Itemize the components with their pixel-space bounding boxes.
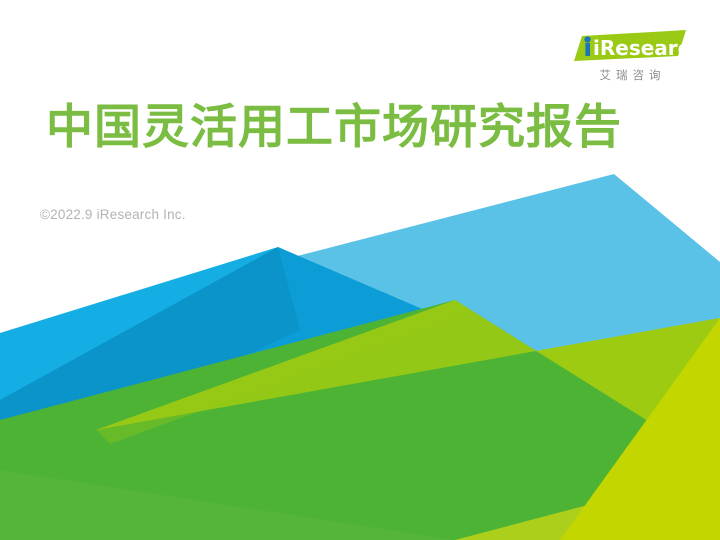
logo-i-stem [585, 43, 590, 56]
blue-deep-overlap [0, 247, 720, 470]
title-block: 中国灵活用工市场研究报告 [46, 100, 686, 155]
report-cover-slide: iResearch 艾瑞咨询 中国灵活用工市场研究报告 ©2022.9 iRes… [0, 0, 720, 540]
iresearch-logo-subtitle: 艾瑞咨询 [574, 67, 686, 83]
iresearch-logo-mark: iResearch [574, 30, 686, 62]
blue-cross-shadow [0, 247, 300, 470]
green-lime-plane [96, 318, 720, 540]
page-title: 中国灵活用工市场研究报告 [46, 100, 686, 155]
copyright-notice: ©2022.9 iResearch Inc. [40, 207, 186, 222]
iresearch-wordmark-svg: iResearch [574, 30, 686, 62]
green-right-corner [560, 318, 720, 540]
green-bottom-left-sheen [0, 470, 455, 540]
logo-wordmark-text: iResearch [593, 36, 686, 60]
logo-i-dot [584, 36, 590, 42]
green-light-overlap [96, 300, 720, 466]
green-lower-right-wedge [455, 470, 720, 540]
green-ridge-highlight [96, 300, 470, 444]
green-mid-plane [0, 300, 720, 540]
iresearch-logo: iResearch 艾瑞咨询 [574, 30, 686, 86]
blue-left-wedge [0, 247, 300, 470]
